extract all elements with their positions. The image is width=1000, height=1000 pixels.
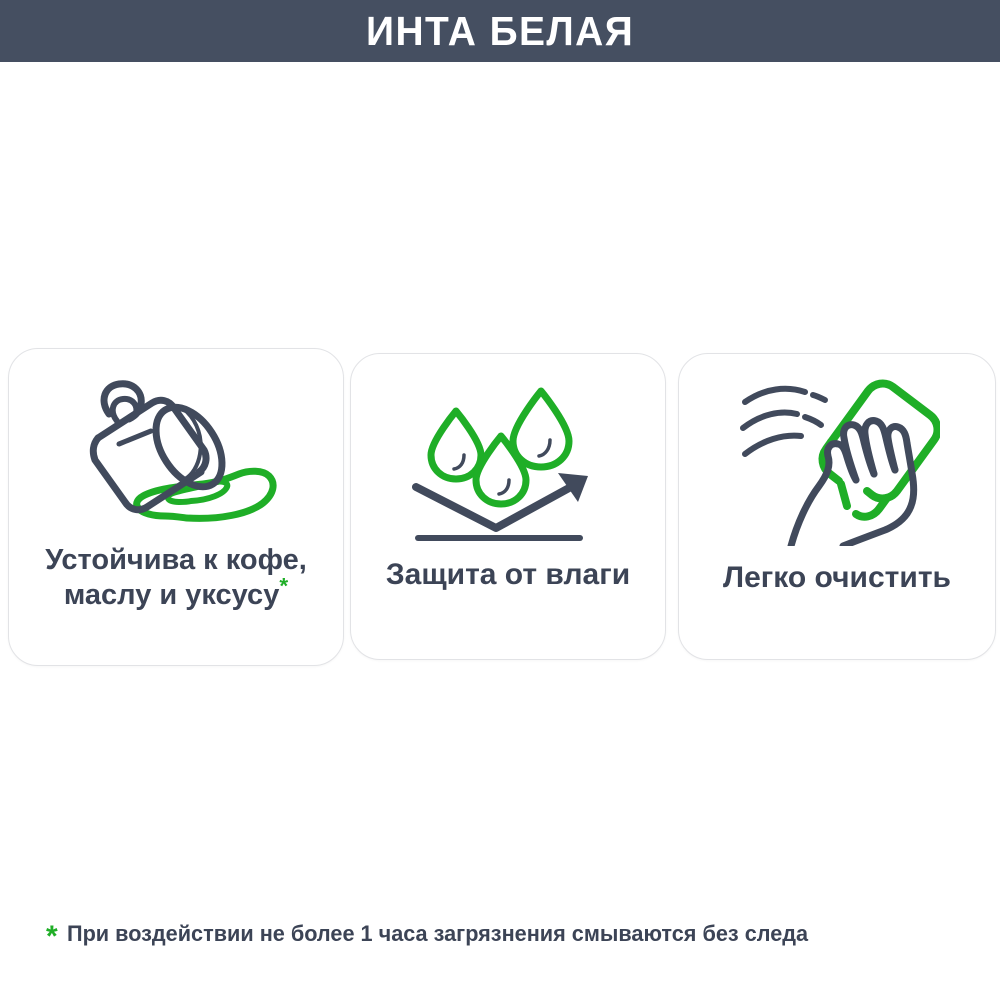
footnote: * При воздействии не более 1 часа загряз… xyxy=(46,920,819,952)
feature-card-easy-to-clean[interactable]: Легко очистить xyxy=(678,353,996,660)
feature-card-moisture-protection[interactable]: Защита от влаги xyxy=(350,353,666,660)
feature-card-caption: Защита от влаги xyxy=(378,557,638,594)
feature-card-stain-resistant[interactable]: Устойчива к кофе, маслу и уксусу* xyxy=(8,348,344,666)
header-band: ИНТА БЕЛАЯ xyxy=(0,0,1000,62)
feature-card-caption: Устойчива к кофе, маслу и уксусу* xyxy=(37,543,315,614)
caption-line-1: Защита от влаги xyxy=(386,558,630,591)
page-title: ИНТА БЕЛАЯ xyxy=(366,11,634,52)
feature-card-caption: Легко очистить xyxy=(715,560,959,597)
footnote-asterisk: * xyxy=(46,922,58,952)
hand-wiping-cloth-icon xyxy=(735,374,940,546)
caption-line-1: Легко очистить xyxy=(723,561,951,594)
feature-cards-row: Устойчива к кофе, маслу и уксусу* xyxy=(0,347,1000,667)
water-repellent-droplets-icon xyxy=(408,380,608,545)
footnote-text: При воздействии не более 1 часа загрязне… xyxy=(67,920,808,948)
caption-asterisk: * xyxy=(279,574,288,599)
spilled-mug-icon xyxy=(69,371,284,541)
caption-line-2: маслу и уксусу xyxy=(64,579,280,611)
caption-line-1: Устойчива к кофе, xyxy=(45,544,307,576)
